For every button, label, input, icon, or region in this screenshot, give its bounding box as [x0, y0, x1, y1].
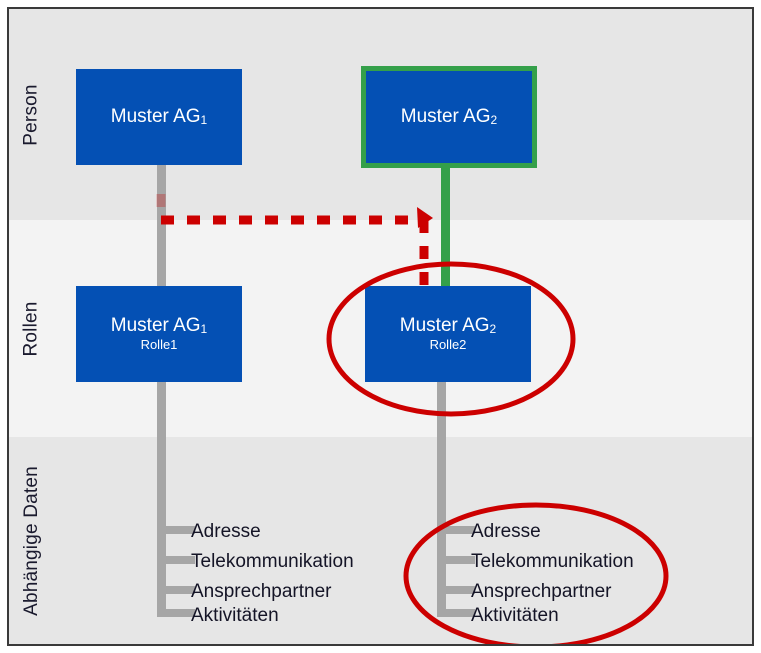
band-daten: [9, 437, 752, 644]
connector-right-stub-aktivitaeten: [437, 609, 475, 617]
connector-right-stub-adresse: [437, 526, 475, 534]
band-label-rollen: Rollen: [9, 220, 55, 437]
node-person-muster-ag-1[interactable]: Muster AG1: [76, 69, 242, 165]
data-item-right-telekommunikation: Telekommunikation: [471, 551, 634, 573]
connector-left-stub-adresse: [157, 526, 195, 534]
band-label-person: Person: [9, 9, 55, 220]
node-role-muster-ag-1-rolle1[interactable]: Muster AG1 Rolle1: [76, 286, 242, 382]
connector-left-stub-telekommunikation: [157, 556, 195, 564]
node-person-1-title: Muster AG1: [111, 107, 207, 127]
node-role-muster-ag-2-rolle2[interactable]: Muster AG2 Rolle2: [365, 286, 531, 382]
node-role-1-title: Muster AG1: [111, 316, 207, 336]
data-item-left-telekommunikation: Telekommunikation: [191, 551, 354, 573]
connector-right-stub-ansprechpartner: [437, 586, 475, 594]
band-label-abhaengige-daten-text: Abhängige Daten: [21, 466, 43, 616]
band-label-person-text: Person: [21, 84, 43, 145]
band-label-abhaengige-daten: Abhängige Daten: [9, 437, 55, 644]
data-item-left-aktivitaeten: Aktivitäten: [191, 605, 279, 627]
connector-left-tree-spine: [157, 527, 166, 617]
node-role-2-role: Rolle2: [430, 337, 467, 352]
connector-right-trunk: [437, 381, 446, 617]
data-item-left-ansprechpartner: Ansprechpartner: [191, 581, 331, 603]
connector-left-stub-ansprechpartner: [157, 586, 195, 594]
data-item-right-aktivitaeten: Aktivitäten: [471, 605, 559, 627]
node-role-1-role: Rolle1: [141, 337, 178, 352]
connector-left-stub-aktivitaeten: [157, 609, 195, 617]
connector-right-stub-telekommunikation: [437, 556, 475, 564]
connector-green-person2-role2: [441, 165, 450, 295]
diagram-canvas: Person Rollen Abhängige Daten Muster AG1…: [7, 7, 754, 646]
node-role-2-title: Muster AG2: [400, 316, 496, 336]
data-item-right-adresse: Adresse: [471, 521, 541, 543]
band-label-rollen-text: Rollen: [21, 301, 43, 356]
data-item-right-ansprechpartner: Ansprechpartner: [471, 581, 611, 603]
data-item-left-adresse: Adresse: [191, 521, 261, 543]
node-person-2-title: Muster AG2: [401, 107, 497, 127]
node-person-muster-ag-2[interactable]: Muster AG2: [361, 66, 537, 168]
